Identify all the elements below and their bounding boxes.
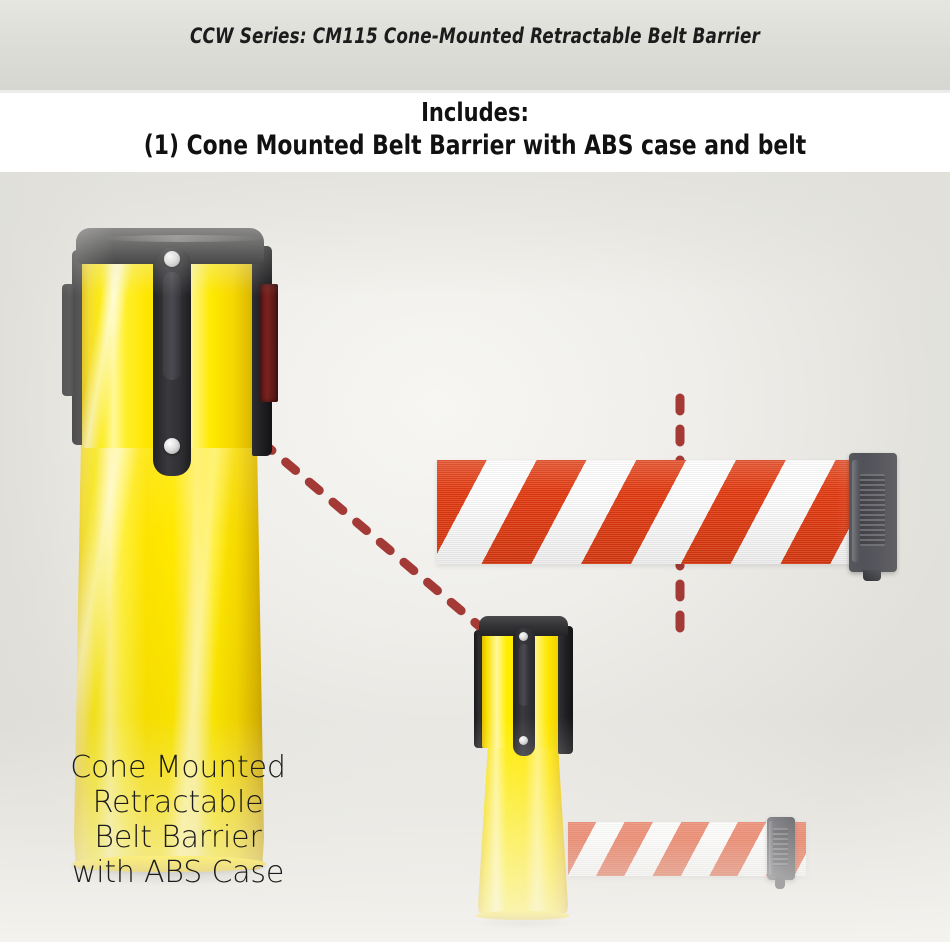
belt-end-clip-large (849, 453, 897, 572)
belt-coil-edge (260, 284, 278, 402)
belt-cassette-housing (558, 626, 573, 754)
belt-end-clip-small (767, 817, 795, 880)
cone-skirt (478, 732, 568, 914)
clip-stem (775, 878, 785, 889)
product-caption: Cone Mounted Retractable Belt Barrier wi… (18, 750, 338, 890)
cone-screw-bottom (164, 438, 180, 454)
clip-highlight (852, 460, 859, 562)
cone-face-plate-slot (519, 644, 529, 706)
cone-cap-highlight (104, 235, 264, 242)
cone-screw-top (164, 251, 180, 267)
header-band: CCW Series: CM115 Cone-Mounted Retractab… (0, 0, 950, 93)
bottom-strip (0, 942, 950, 950)
cone-screw-top (519, 632, 528, 641)
cone-face-plate-slot (163, 272, 181, 380)
page-title: CCW Series: CM115 Cone-Mounted Retractab… (62, 24, 889, 49)
cone-screw-bottom (519, 736, 528, 745)
cone-barrier-small (470, 614, 590, 926)
caption-line-2: Retractable (18, 785, 338, 820)
product-image-page: CCW Series: CM115 Cone-Mounted Retractab… (0, 0, 950, 950)
includes-contents: (1) Cone Mounted Belt Barrier with ABS c… (48, 130, 903, 161)
clip-stem (863, 570, 880, 581)
clip-ribs (773, 828, 788, 866)
belt-texture-overlay (437, 460, 857, 564)
includes-band: Includes: (1) Cone Mounted Belt Barrier … (0, 93, 950, 172)
cone-skirt-lip (476, 911, 570, 920)
cone-side-rail-tab (62, 284, 75, 396)
clip-ribs (860, 474, 885, 545)
caption-line-3: Belt Barrier (18, 820, 338, 855)
includes-heading: Includes: (48, 98, 903, 128)
clip-highlight (769, 821, 773, 875)
product-photo: Cone Mounted Retractable Belt Barrier wi… (0, 172, 950, 950)
caption-line-1: Cone Mounted (18, 750, 338, 785)
caption-line-4: with ABS Case (18, 855, 338, 890)
retractable-belt-large (437, 460, 857, 564)
